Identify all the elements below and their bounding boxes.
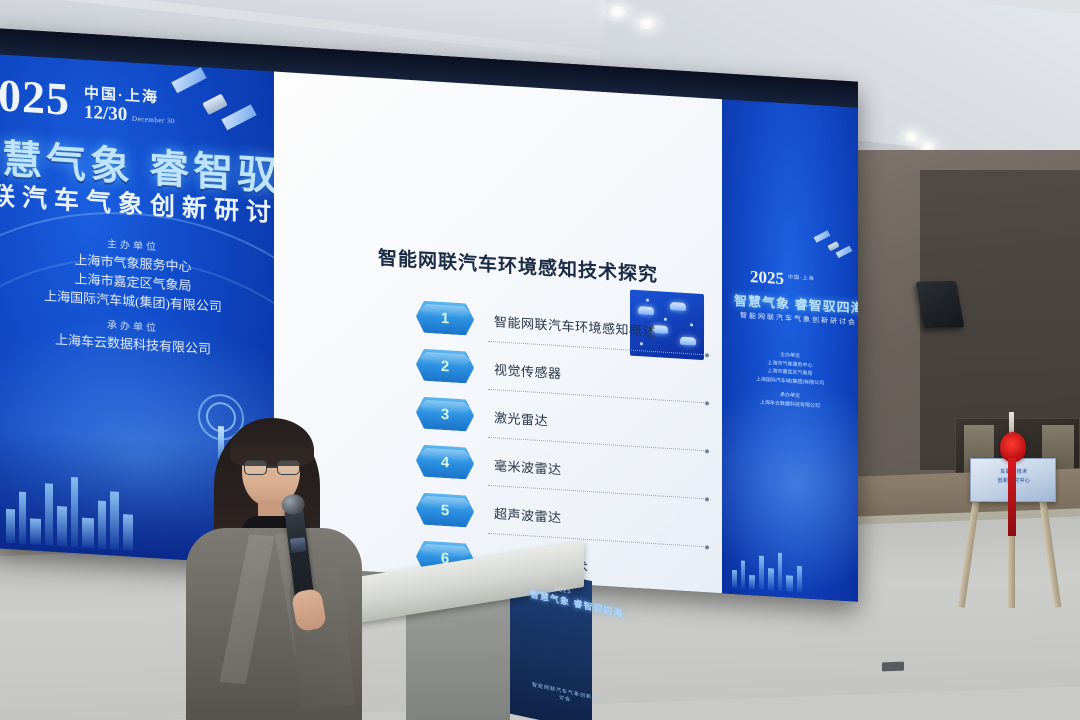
mini-banner-organizers: 主办单位 上海市气象服务中心 上海市嘉定区气象局 上海国际汽车城(集团)有限公司… <box>722 347 858 412</box>
mini-banner-city: 中国·上海 <box>788 273 815 282</box>
recessed-downlight-icon <box>902 132 921 142</box>
satellite-icon <box>814 231 850 261</box>
microphone-label <box>290 537 307 553</box>
glasses-icon <box>244 460 300 475</box>
conference-photo-scene: 2025 中国·上海 12/30 December 30 智慧气象 睿智驭四海 … <box>0 0 1080 720</box>
led-video-wall: 2025 中国·上海 12/30 December 30 智慧气象 睿智驭四海 … <box>0 28 858 602</box>
agenda-item-label: 智能网联汽车环境感知概述 <box>494 311 656 340</box>
secondary-event-banner: 2025 中国·上海 智慧气象 睿智驭四海 智能网联汽车气象创新研讨会 主办单位… <box>722 99 858 601</box>
presenter <box>186 404 366 720</box>
easel-stand: 车联网技术 创新研究中心 <box>952 418 1072 608</box>
agenda-number-badge: 2 <box>416 348 474 384</box>
agenda-item-label: 激光雷达 <box>494 407 548 429</box>
recessed-downlight-icon <box>606 6 629 17</box>
recessed-downlight-icon <box>636 18 658 29</box>
lectern: 2025 智慧气象 睿智驭四海 智能网联汽车气象创新研讨会 <box>344 560 590 720</box>
city-skyline-icon <box>722 99 858 197</box>
ribbon-tail <box>1008 458 1016 536</box>
easel-leg <box>1038 488 1062 608</box>
wall-speaker-icon <box>916 281 965 328</box>
mini-banner-year: 2025 <box>750 267 784 289</box>
floor-socket-icon <box>882 662 904 672</box>
agenda-number-badge: 3 <box>416 396 474 432</box>
banner-date-value: 12/30 <box>84 102 127 126</box>
slide-title: 智能网联汽车环境感知技术探究 <box>378 243 658 287</box>
satellite-icon <box>164 67 260 143</box>
agenda-item-label: 视觉传感器 <box>494 359 562 382</box>
banner-date-en: December 30 <box>132 115 175 126</box>
agenda-item-label: 超声波雷达 <box>494 503 562 526</box>
agenda-number-badge: 5 <box>416 492 474 528</box>
presenter-hair-front <box>230 418 314 466</box>
banner-date: 12/30 December 30 <box>84 102 175 130</box>
coat-lapel <box>220 532 275 685</box>
easel-leg <box>958 488 982 608</box>
banner-organizers: 主办单位 上海市气象服务中心 上海市嘉定区气象局 上海国际汽车城(集团)有限公司… <box>0 222 274 363</box>
agenda-item-label: 毫米波雷达 <box>494 455 562 478</box>
agenda-number-badge: 4 <box>416 444 474 480</box>
agenda-number-badge: 1 <box>416 300 474 336</box>
banner-year: 2025 <box>0 67 70 126</box>
